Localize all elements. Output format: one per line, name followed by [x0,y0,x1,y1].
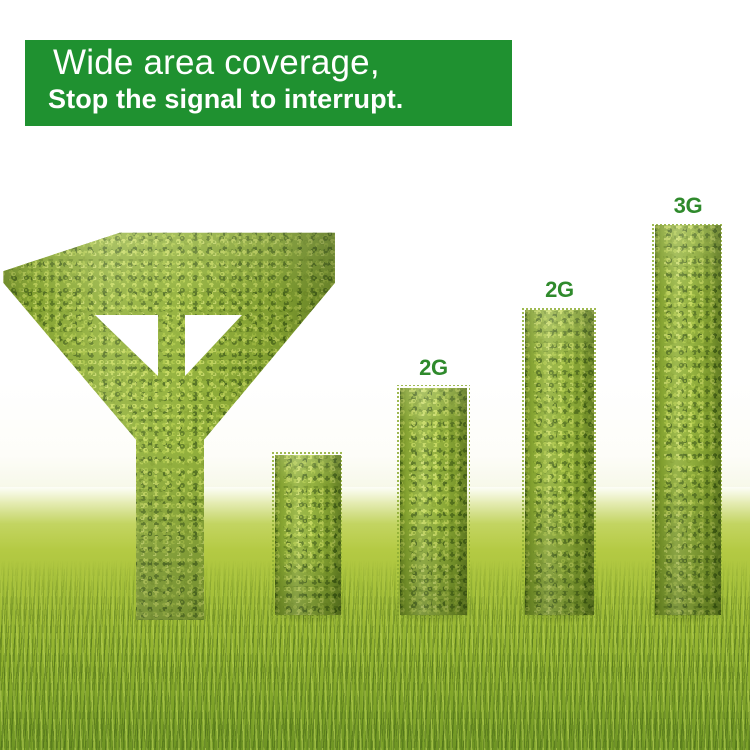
bar-4 [655,225,721,615]
bar-2 [400,388,467,615]
header-banner: Wide area coverage, Stop the signal to i… [25,40,512,126]
bar-3 [525,310,594,615]
poster-canvas: 2G 2G 3G Wide area coverage, Stop the si… [0,0,750,750]
bar-label-2: 2G [400,357,467,379]
bar-label-4: 3G [655,195,721,217]
banner-subheadline: Stop the signal to interrupt. [48,83,403,115]
bar-label-3: 2G [525,279,594,301]
banner-headline: Wide area coverage, [53,42,380,84]
bar-1 [275,455,341,615]
